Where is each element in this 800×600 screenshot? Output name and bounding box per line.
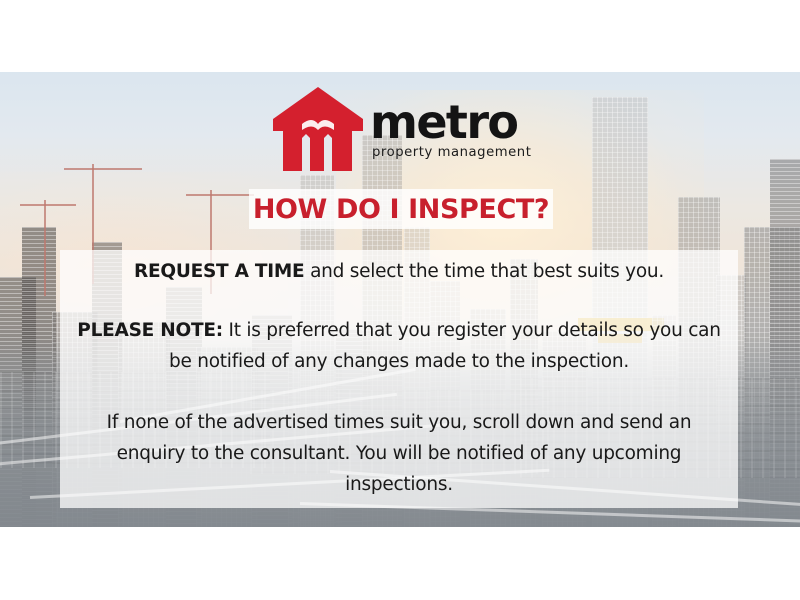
crane-icon [20,204,76,206]
crane-icon [186,194,254,196]
instruction-paragraph-3: If none of the advertised times suit you… [74,407,724,500]
metro-house-m-logo-icon [272,86,364,172]
crane-icon [44,200,46,296]
instruction-paragraph-1: REQUEST A TIME and select the time that … [74,256,724,287]
page-title: HOW DO I INSPECT? [253,194,549,225]
instruction-paragraph-1-rest: and select the time that best suits you. [304,261,664,282]
instruction-paragraph-2-rest: It is preferred that you register your d… [169,320,721,372]
request-a-time-lead: REQUEST A TIME [134,261,304,282]
metro-logo: metro property management [272,84,532,174]
inspection-info-banner: metro property management HOW DO I INSPE… [0,0,800,600]
please-note-lead: PLEASE NOTE: [77,320,223,341]
crane-icon [64,168,142,170]
instruction-paragraph-2: PLEASE NOTE: It is preferred that you re… [74,315,724,377]
instructions-body: REQUEST A TIME and select the time that … [60,250,738,500]
logo-wordmark: metro [370,101,531,144]
instruction-paragraph-3-text: If none of the advertised times suit you… [107,412,692,495]
metro-logo-text: metro property management [370,97,531,161]
logo-tagline: property management [370,146,531,161]
headline-banner: HOW DO I INSPECT? [249,189,553,229]
